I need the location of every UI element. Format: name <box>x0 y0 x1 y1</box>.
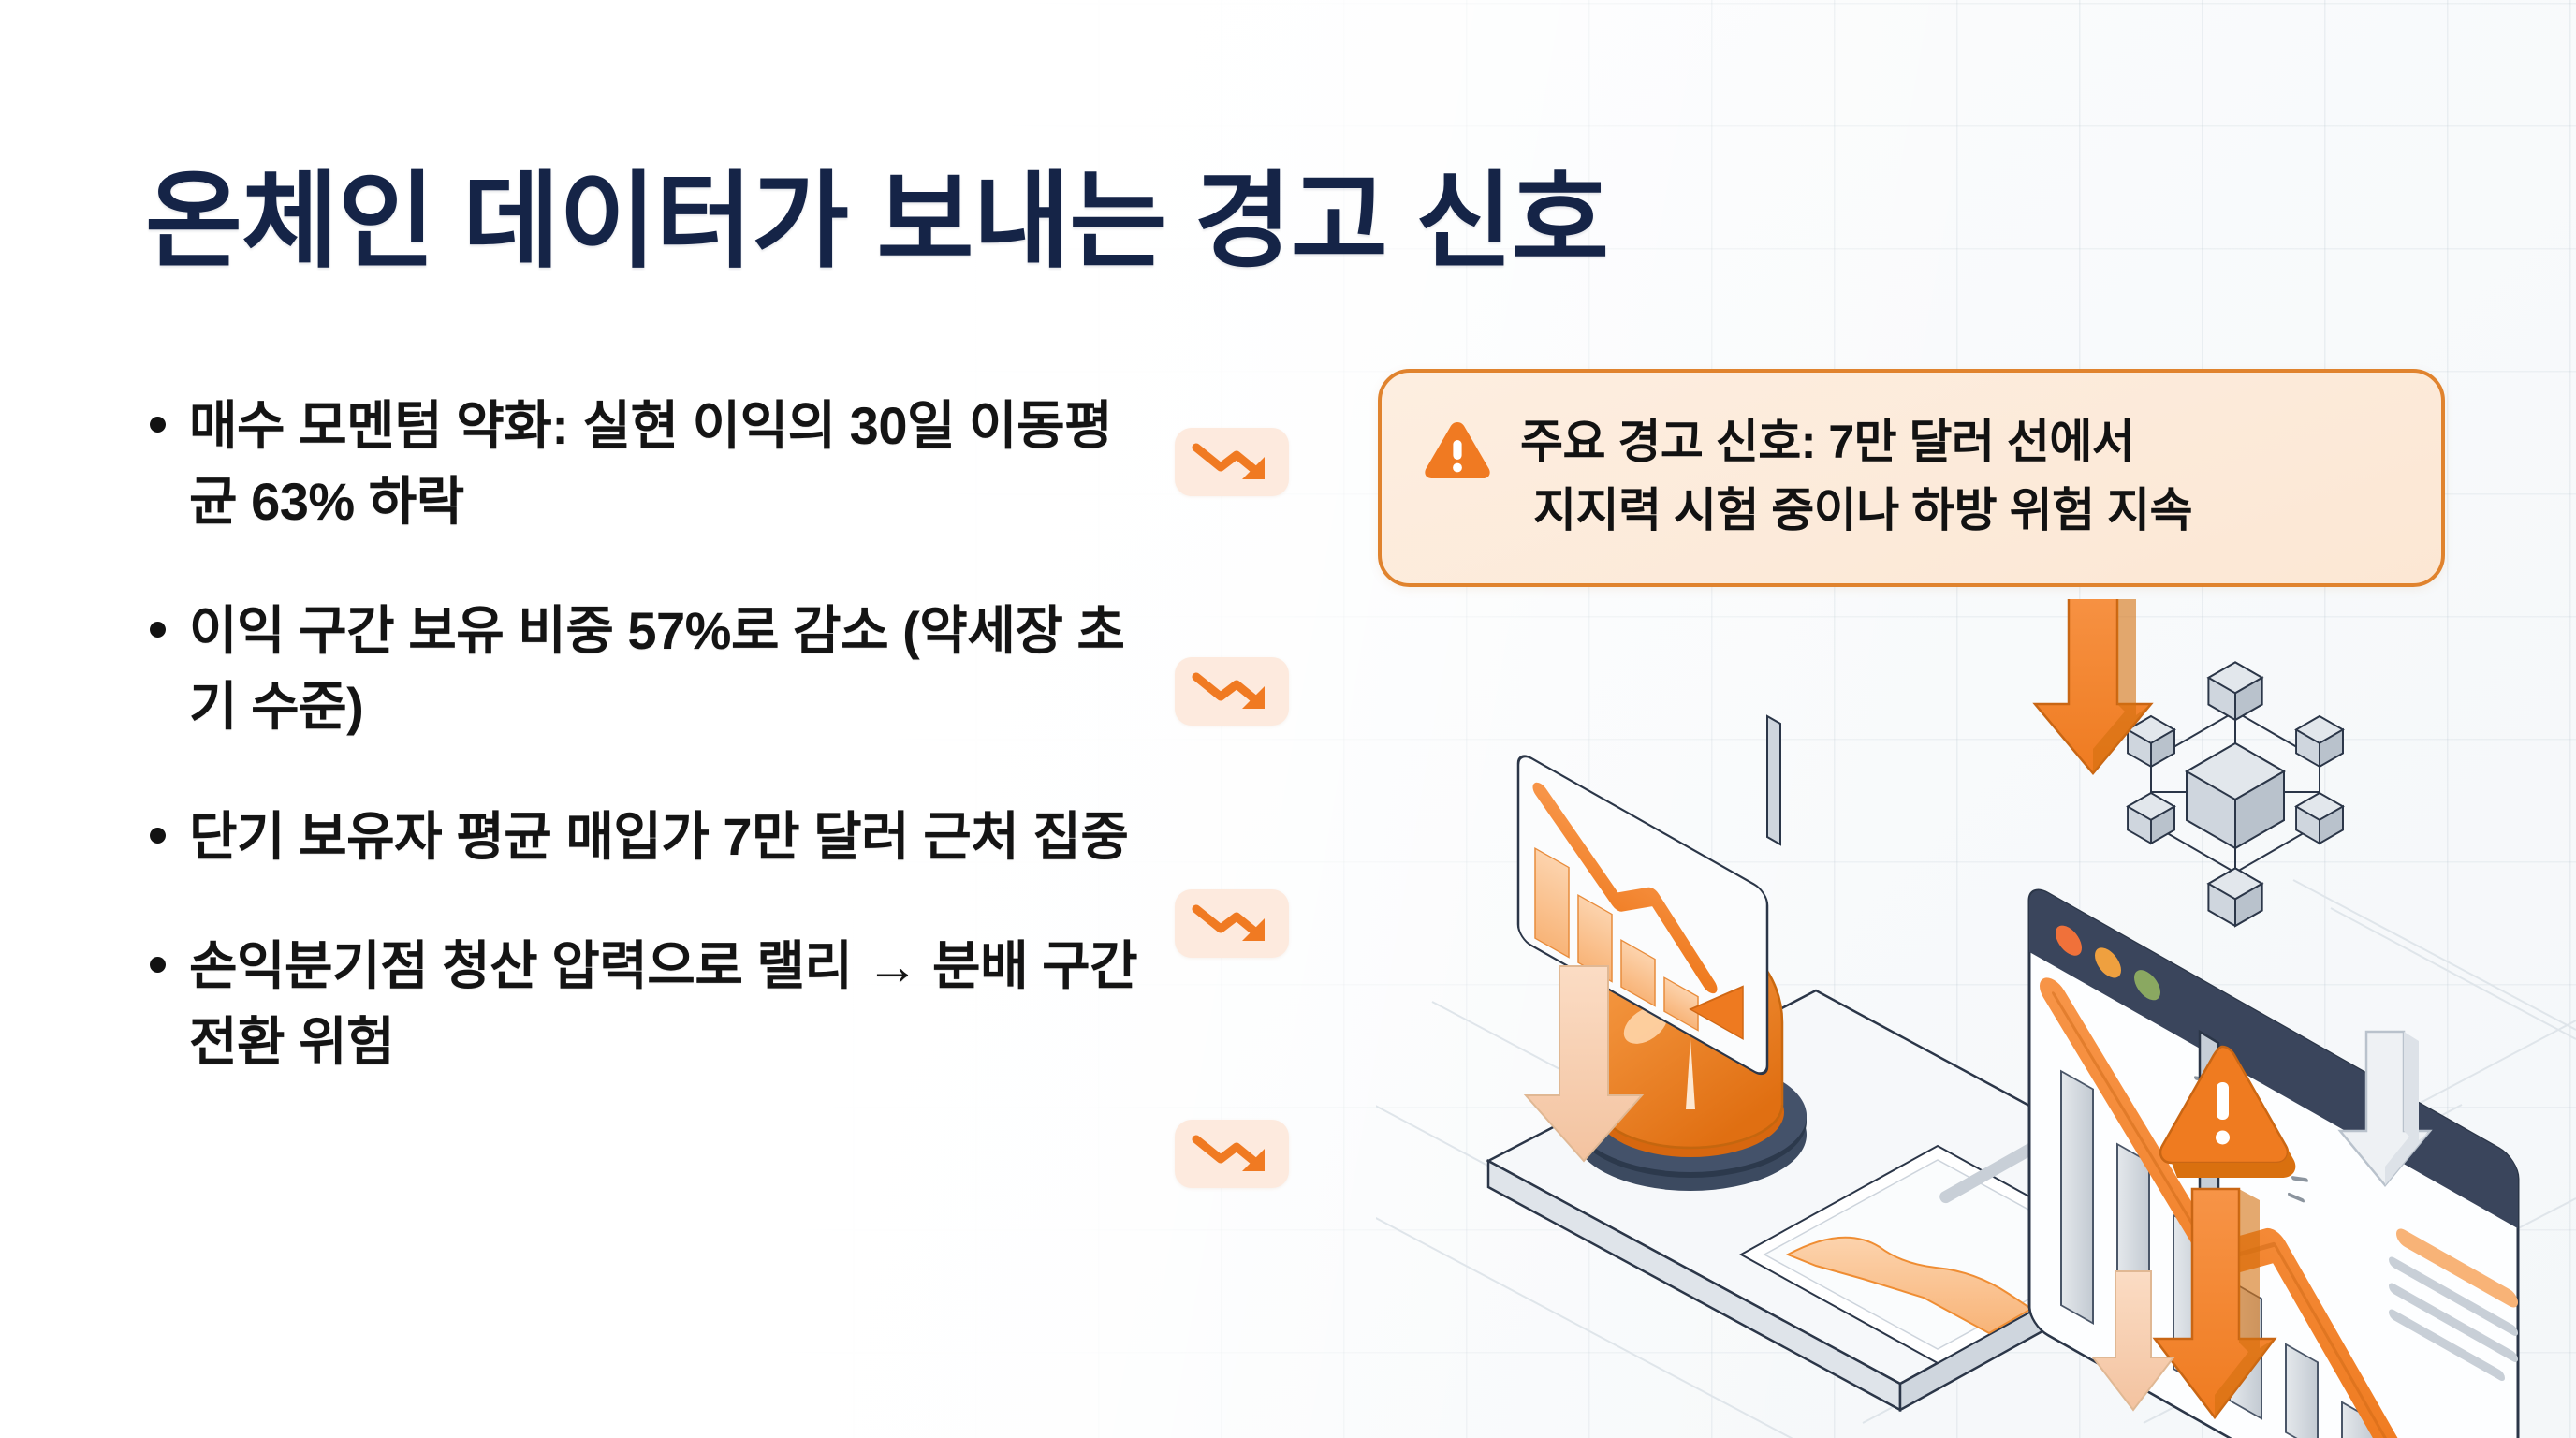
list-item: 이익 구간 보유 비중 57%로 감소 (약세장 초기 수준) <box>150 594 1142 744</box>
bullet-dot-icon <box>150 622 166 638</box>
warning-callout: 주요 경고 신호: 7만 달러 선에서 지지력 시험 중이나 하방 위험 지속 <box>1378 369 2445 587</box>
bullet-dot-icon <box>150 417 166 433</box>
list-item: 손익분기점 청산 압력으로 랠리 → 분배 구간 전환 위험 <box>150 929 1142 1079</box>
warning-callout-line-2: 지지력 시험 중이나 하방 위험 지속 <box>1520 477 2192 545</box>
list-item: 단기 보유자 평균 매입가 7만 달러 근처 집중 <box>150 800 1142 875</box>
slide-root: 온체인 데이터가 보내는 경고 신호 매수 모멘텀 약화: 실현 이익의 30일… <box>0 0 2576 1438</box>
bullet-text: 매수 모멘텀 약화: 실현 이익의 30일 이동평균 63% 하락 <box>189 389 1142 539</box>
bullet-dot-icon <box>150 828 166 844</box>
blockchain-cubes <box>2128 662 2343 926</box>
bullet-text: 손익분기점 청산 압력으로 랠리 → 분배 구간 전환 위험 <box>189 929 1142 1079</box>
warning-triangle-icon <box>1423 419 1492 486</box>
warning-callout-line-1: 주요 경고 신호: 7만 달러 선에서 <box>1520 416 2134 468</box>
page-title: 온체인 데이터가 보내는 경고 신호 <box>145 161 1608 282</box>
trending-down-icon <box>1175 657 1289 726</box>
warning-callout-text: 주요 경고 신호: 7만 달러 선에서 지지력 시험 중이나 하방 위험 지속 <box>1520 408 2192 544</box>
bullet-text: 단기 보유자 평균 매입가 7만 달러 근처 집중 <box>189 800 1128 875</box>
trending-down-icon <box>1175 428 1289 496</box>
list-item: 매수 모멘텀 약화: 실현 이익의 30일 이동평균 63% 하락 <box>150 389 1142 539</box>
trending-down-icon <box>1175 889 1289 958</box>
bullet-text: 이익 구간 보유 비중 57%로 감소 (약세장 초기 수준) <box>189 594 1142 744</box>
isometric-illustration <box>1376 599 2576 1438</box>
bullet-list: 매수 모멘텀 약화: 실현 이익의 30일 이동평균 63% 하락 이익 구간 … <box>150 389 1142 1134</box>
trending-down-icon <box>1175 1120 1289 1188</box>
bullet-dot-icon <box>150 957 166 973</box>
